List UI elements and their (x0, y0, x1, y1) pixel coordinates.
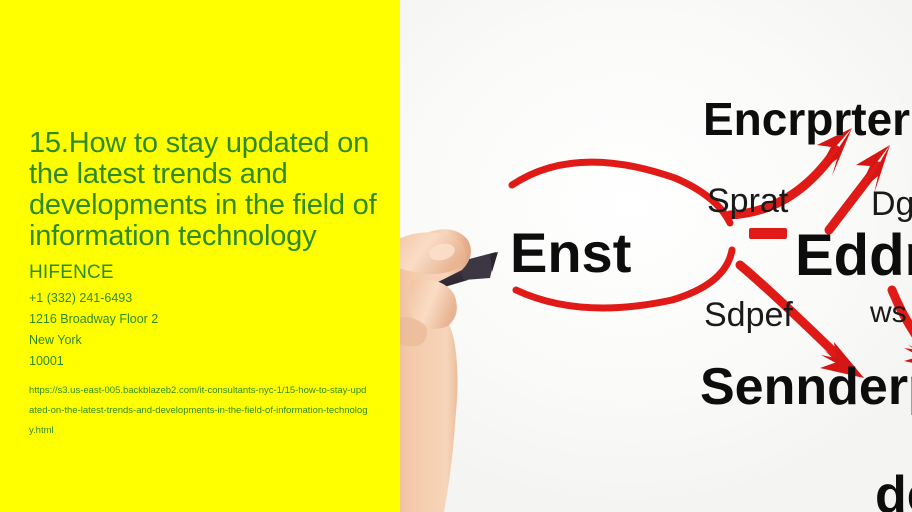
diagram-label-bottom-right: dern (875, 466, 912, 512)
contact-address-line1: 1216 Broadway Floor 2 (29, 309, 391, 330)
contact-zip: 10001 (29, 351, 391, 372)
diagram-label-center-right: Eddnand (795, 223, 912, 288)
diagram-label-center: Enst (510, 221, 631, 284)
page-title: 15.How to stay updated on the latest tre… (29, 128, 391, 252)
screenshot-root: 15.How to stay updated on the latest tre… (0, 0, 912, 512)
hand-holding-pen (400, 222, 513, 512)
article-url-link[interactable]: https://s3.us-east-005.backblazeb2.com/i… (29, 381, 369, 441)
diagram-label-branch-top-left: Sprat (707, 182, 789, 220)
diagram-label-branch-bottom-left: Sdpef (704, 296, 793, 334)
diagram-label-branch-top-right: Dg (871, 185, 912, 223)
contact-phone[interactable]: +1 (332) 241-6493 (29, 288, 391, 309)
diagram-label-bottom-main: Sennderp (700, 358, 912, 416)
contact-city: New York (29, 330, 391, 351)
diagram-label-branch-bottom-right: ws (869, 296, 907, 329)
left-info-panel: 15.How to stay updated on the latest tre… (0, 0, 400, 512)
connector-dash-icon (749, 228, 787, 239)
illustration-panel: Enst Eddnand Encrprterni Sprat Dg Sdpef … (400, 0, 912, 512)
brand-name: HIFENCE (29, 262, 391, 284)
text-block: 15.How to stay updated on the latest tre… (29, 128, 391, 441)
diagram-label-top-right: Encrprterni (703, 93, 912, 145)
